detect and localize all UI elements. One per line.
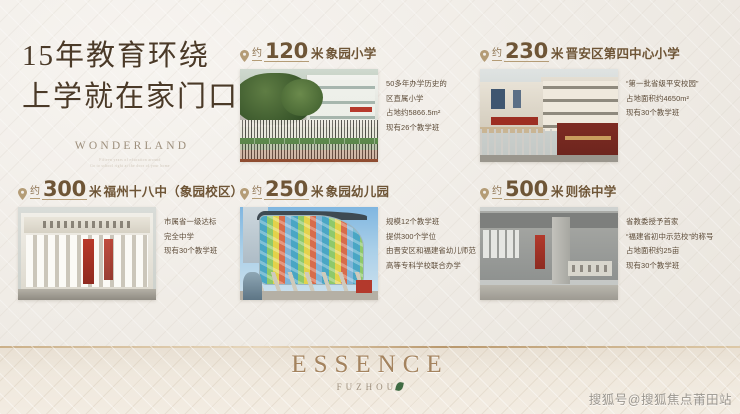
school-card-xiangyuan-kindergarten[interactable]: 约 250 米 象园幼儿园 规模12个教学班 提供300个学位 由晋安区和福建省… (240, 180, 476, 300)
location-pin-icon (240, 188, 249, 200)
school-name: 福州十八中（象园校区） (104, 186, 244, 199)
leaf-icon (396, 381, 405, 391)
poster-canvas: 15年教育环绕 上学就在家门口 WONDERLAND Fifteen years… (0, 0, 740, 414)
distance-value: 250 (264, 180, 309, 200)
fact-line: 区直属小学 (386, 92, 447, 106)
headline-block: 15年教育环绕 上学就在家门口 WONDERLAND Fifteen years… (22, 36, 238, 168)
fact-line: 占地面积约25亩 (626, 244, 714, 258)
fact-line: 规模12个教学班 (386, 215, 476, 229)
school-facts: 规模12个教学班 提供300个学位 由晋安区和福建省幼儿师范 高等专科学校联合办… (378, 207, 476, 300)
card-heading: 约 230 米 晋安区第四中心小学 (480, 42, 699, 62)
fact-line: 现有30个教学班 (626, 259, 714, 273)
school-facts: 省教委授予首家 “福建省初中示范校”的称号 占地面积约25亩 现有30个教学班 (618, 207, 714, 300)
school-name: 象园幼儿园 (326, 186, 390, 199)
brand-logo: ESSENCE FUZHOU (0, 351, 740, 392)
distance-unit: 米 (551, 186, 564, 199)
source-watermark: 搜狐号@搜狐焦点莆田站 (589, 389, 732, 408)
fact-line: 完全中学 (164, 230, 217, 244)
card-body: 50多年办学历史的 区直属小学 占地约5866.5m² 现有26个教学班 (240, 69, 447, 162)
school-card-xiangyuan-primary[interactable]: 约 120 米 象园小学 50多年办学历史的 区直属小学 占地约5866.5m²… (240, 42, 447, 162)
location-pin-icon (480, 50, 489, 62)
headline-line-1: 15年教育环绕 (22, 36, 238, 77)
location-pin-icon (240, 50, 249, 62)
school-photo-xiangyuan-kindergarten[interactable] (240, 207, 378, 300)
fact-line: 由晋安区和福建省幼儿师范 (386, 244, 476, 258)
distance-prefix: 约 (252, 186, 262, 200)
distance-prefix: 约 (492, 48, 502, 62)
brand-logo-city-text: FUZHOU (337, 382, 398, 392)
fact-line: 现有26个教学班 (386, 121, 447, 135)
fact-line: 省教委授予首家 (626, 215, 714, 229)
distance-prefix: 约 (252, 48, 262, 62)
distance-value: 500 (504, 180, 549, 200)
school-photo-xiangyuan-primary[interactable] (240, 69, 378, 162)
fact-line: 提供300个学位 (386, 230, 476, 244)
fact-line: 占地面积约4650m² (626, 92, 699, 106)
headline-line-2: 上学就在家门口 (22, 77, 238, 118)
fact-line: 市属省一级达标 (164, 215, 217, 229)
school-name: 象园小学 (326, 48, 377, 61)
fact-line: “第一批省级平安校园” (626, 77, 699, 91)
card-body: 规模12个教学班 提供300个学位 由晋安区和福建省幼儿师范 高等专科学校联合办… (240, 207, 476, 300)
school-facts: 市属省一级达标 完全中学 现有30个教学班 (156, 207, 217, 300)
school-name: 则徐中学 (566, 186, 617, 199)
distance-unit: 米 (311, 186, 324, 199)
distance-prefix: 约 (492, 186, 502, 200)
distance-unit: 米 (89, 186, 102, 199)
distance-unit: 米 (311, 48, 324, 61)
distance-unit: 米 (551, 48, 564, 61)
school-photo-zexu-middle[interactable] (480, 207, 618, 300)
card-body: 省教委授予首家 “福建省初中示范校”的称号 占地面积约25亩 现有30个教学班 (480, 207, 714, 300)
distance-value: 230 (504, 42, 549, 62)
school-photo-jinan-fourth-central[interactable] (480, 69, 618, 162)
card-heading: 约 500 米 则徐中学 (480, 180, 714, 200)
card-heading: 约 250 米 象园幼儿园 (240, 180, 476, 200)
location-pin-icon (480, 188, 489, 200)
headline-subtitle-1: Fifteen years of education around (22, 158, 238, 162)
headline-latin: WONDERLAND (22, 140, 238, 152)
fact-line: 现有30个教学班 (626, 106, 699, 120)
school-card-fuzhou-no18[interactable]: 约 300 米 福州十八中（象园校区） 市属省一级达标 完全中学 现有30个教学… (18, 180, 243, 300)
school-facts: “第一批省级平安校园” 占地面积约4650m² 现有30个教学班 (618, 69, 699, 162)
distance-value: 120 (264, 42, 309, 62)
headline-subtitle-2: Go to school right at the door of your h… (22, 164, 238, 168)
fact-line: “福建省初中示范校”的称号 (626, 230, 714, 244)
card-heading: 约 300 米 福州十八中（象园校区） (18, 180, 243, 200)
card-body: “第一批省级平安校园” 占地面积约4650m² 现有30个教学班 (480, 69, 699, 162)
card-body: 市属省一级达标 完全中学 现有30个教学班 (18, 207, 243, 300)
fact-line: 现有30个教学班 (164, 244, 217, 258)
location-pin-icon (18, 188, 27, 200)
distance-value: 300 (42, 180, 87, 200)
brand-logo-name: ESSENCE (0, 351, 740, 379)
fact-line: 50多年办学历史的 (386, 77, 447, 91)
school-card-zexu-middle[interactable]: 约 500 米 则徐中学 省教委授予首家 “福建省初中示范校”的称号 占地面积约… (480, 180, 714, 300)
school-name: 晋安区第四中心小学 (566, 48, 680, 61)
school-card-jinan-fourth-central[interactable]: 约 230 米 晋安区第四中心小学 “第一批省级平安校园” 占地面积约4650m… (480, 42, 699, 162)
card-heading: 约 120 米 象园小学 (240, 42, 447, 62)
school-facts: 50多年办学历史的 区直属小学 占地约5866.5m² 现有26个教学班 (378, 69, 447, 162)
fact-line: 占地约5866.5m² (386, 106, 447, 120)
school-photo-fuzhou-no18[interactable] (18, 207, 156, 300)
distance-prefix: 约 (30, 186, 40, 200)
fact-line: 高等专科学校联合办学 (386, 259, 476, 273)
